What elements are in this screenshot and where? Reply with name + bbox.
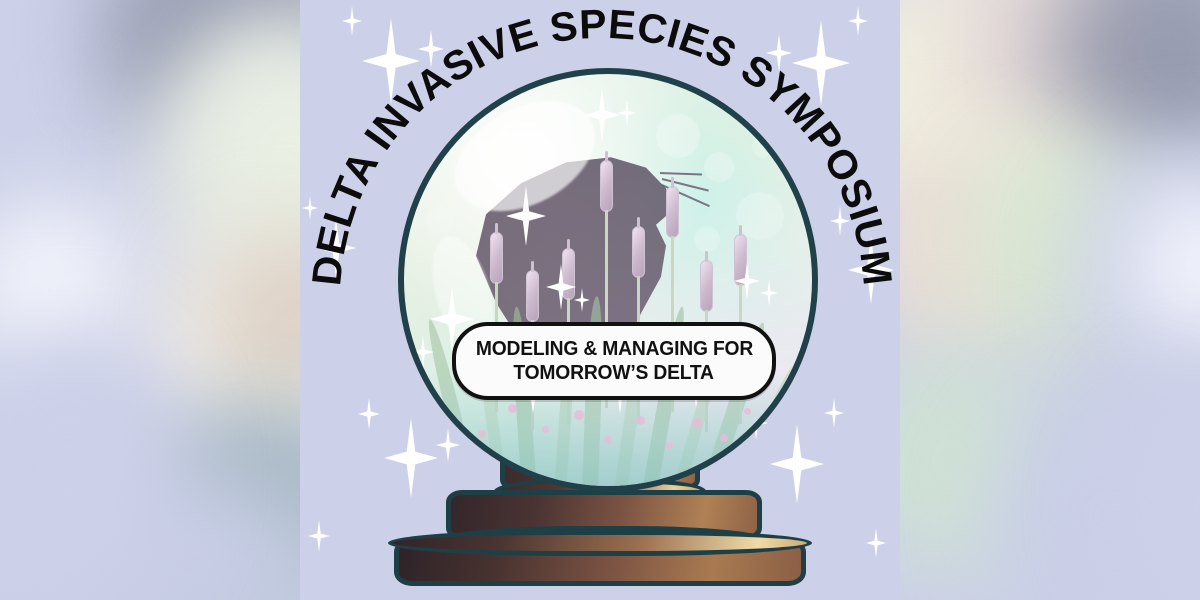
banner-line-1: MODELING & MANAGING FOR: [475, 337, 752, 361]
blurred-right-fill: [880, 0, 1200, 600]
event-banner-poster: DELTA INVASIVE SPECIES SYMPOSIUM MODELIN…: [0, 0, 1200, 600]
banner-line-2: TOMORROW’S DELTA: [514, 361, 714, 385]
blurred-left-fill: [0, 0, 320, 600]
arched-title-text: DELTA INVASIVE SPECIES SYMPOSIUM: [303, 1, 900, 288]
subtitle-banner: MODELING & MANAGING FOR TOMORROW’S DELTA: [452, 322, 776, 400]
arched-title: DELTA INVASIVE SPECIES SYMPOSIUM: [300, 0, 900, 600]
poster-artwork: DELTA INVASIVE SPECIES SYMPOSIUM MODELIN…: [300, 0, 900, 600]
